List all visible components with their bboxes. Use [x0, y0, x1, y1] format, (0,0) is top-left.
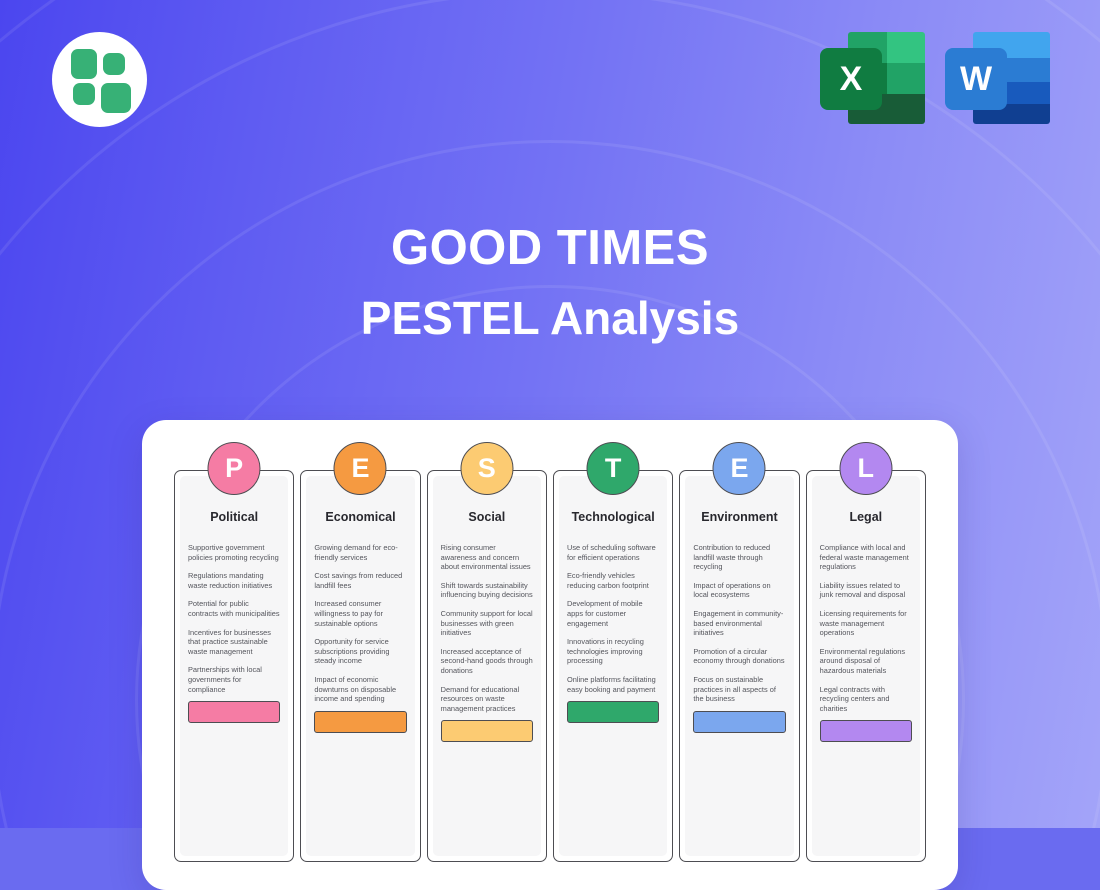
- column-title: Political: [188, 510, 280, 524]
- list-item: Impact of operations on local ecosystems: [693, 581, 785, 600]
- column-badge-economical: E: [334, 442, 387, 495]
- list-item: Legal contracts with recycling centers a…: [820, 685, 912, 714]
- column-item-list: Use of scheduling software for efficient…: [567, 543, 659, 694]
- list-item: Promotion of a circular economy through …: [693, 647, 785, 666]
- column-accent-bar: [188, 701, 280, 723]
- column-title: Technological: [567, 510, 659, 524]
- column-title: Legal: [820, 510, 912, 524]
- list-item: Growing demand for eco-friendly services: [314, 543, 406, 562]
- column-title: Environment: [693, 510, 785, 524]
- logo-square-4: [101, 83, 131, 113]
- list-item: Development of mobile apps for customer …: [567, 599, 659, 628]
- column-badge-environment: E: [713, 442, 766, 495]
- list-item: Regulations mandating waste reduction in…: [188, 571, 280, 590]
- column-badge-technological: T: [587, 442, 640, 495]
- list-item: Focus on sustainable practices in all as…: [693, 675, 785, 704]
- logo-square-1: [71, 49, 97, 79]
- title-block: GOOD TIMES PESTEL Analysis: [0, 224, 1100, 341]
- list-item: Licensing requirements for waste managem…: [820, 609, 912, 638]
- list-item: Online platforms facilitating easy booki…: [567, 675, 659, 694]
- pestel-columns: PPoliticalSupportive government policies…: [174, 470, 926, 862]
- column-badge-social: S: [460, 442, 513, 495]
- list-item: Incentives for businesses that practice …: [188, 628, 280, 657]
- column-accent-bar: [567, 701, 659, 723]
- word-icon[interactable]: W: [945, 32, 1050, 124]
- column-item-list: Contribution to reduced landfill waste t…: [693, 543, 785, 704]
- list-item: Rising consumer awareness and concern ab…: [441, 543, 533, 572]
- column-item-list: Compliance with local and federal waste …: [820, 543, 912, 713]
- list-item: Innovations in recycling technologies im…: [567, 637, 659, 666]
- pestel-column-economical[interactable]: EEconomicalGrowing demand for eco-friend…: [300, 470, 420, 862]
- list-item: Eco-friendly vehicles reducing carbon fo…: [567, 571, 659, 590]
- column-title: Social: [441, 510, 533, 524]
- pestel-column-environment[interactable]: EEnvironmentContribution to reduced land…: [679, 470, 799, 862]
- column-item-list: Supportive government policies promoting…: [188, 543, 280, 694]
- excel-icon[interactable]: X: [820, 32, 925, 124]
- column-accent-bar: [693, 711, 785, 733]
- list-item: Compliance with local and federal waste …: [820, 543, 912, 572]
- pestel-column-political[interactable]: PPoliticalSupportive government policies…: [174, 470, 294, 862]
- column-accent-bar: [314, 711, 406, 733]
- pestel-card: PPoliticalSupportive government policies…: [142, 420, 958, 890]
- column-badge-legal: L: [839, 442, 892, 495]
- column-item-list: Growing demand for eco-friendly services…: [314, 543, 406, 704]
- list-item: Potential for public contracts with muni…: [188, 599, 280, 618]
- list-item: Partnerships with local governments for …: [188, 665, 280, 694]
- list-item: Community support for local businesses w…: [441, 609, 533, 638]
- list-item: Shift towards sustainability influencing…: [441, 581, 533, 600]
- column-panel: TechnologicalUse of scheduling software …: [559, 476, 667, 856]
- list-item: Increased consumer willingness to pay fo…: [314, 599, 406, 628]
- list-item: Environmental regulations around disposa…: [820, 647, 912, 676]
- logo-square-2: [103, 53, 125, 75]
- page-title: GOOD TIMES: [0, 224, 1100, 273]
- logo-square-3: [73, 83, 95, 105]
- page-subtitle: PESTEL Analysis: [0, 295, 1100, 341]
- pestel-column-social[interactable]: SSocialRising consumer awareness and con…: [427, 470, 547, 862]
- pestel-column-legal[interactable]: LLegalCompliance with local and federal …: [806, 470, 926, 862]
- column-panel: LegalCompliance with local and federal w…: [812, 476, 920, 856]
- grid-logo-icon: [52, 32, 147, 127]
- excel-icon-letter: X: [820, 48, 882, 110]
- list-item: Supportive government policies promoting…: [188, 543, 280, 562]
- list-item: Use of scheduling software for efficient…: [567, 543, 659, 562]
- word-icon-letter: W: [945, 48, 1007, 110]
- list-item: Cost savings from reduced landfill fees: [314, 571, 406, 590]
- list-item: Contribution to reduced landfill waste t…: [693, 543, 785, 572]
- pestel-column-technological[interactable]: TTechnologicalUse of scheduling software…: [553, 470, 673, 862]
- column-panel: EnvironmentContribution to reduced landf…: [685, 476, 793, 856]
- list-item: Impact of economic downturns on disposab…: [314, 675, 406, 704]
- list-item: Opportunity for service subscriptions pr…: [314, 637, 406, 666]
- column-panel: SocialRising consumer awareness and conc…: [433, 476, 541, 856]
- column-title: Economical: [314, 510, 406, 524]
- column-item-list: Rising consumer awareness and concern ab…: [441, 543, 533, 713]
- column-panel: PoliticalSupportive government policies …: [180, 476, 288, 856]
- column-accent-bar: [441, 720, 533, 742]
- list-item: Engagement in community-based environmen…: [693, 609, 785, 638]
- list-item: Liability issues related to junk removal…: [820, 581, 912, 600]
- list-item: Increased acceptance of second-hand good…: [441, 647, 533, 676]
- list-item: Demand for educational resources on wast…: [441, 685, 533, 714]
- column-accent-bar: [820, 720, 912, 742]
- column-badge-political: P: [208, 442, 261, 495]
- column-panel: EconomicalGrowing demand for eco-friendl…: [306, 476, 414, 856]
